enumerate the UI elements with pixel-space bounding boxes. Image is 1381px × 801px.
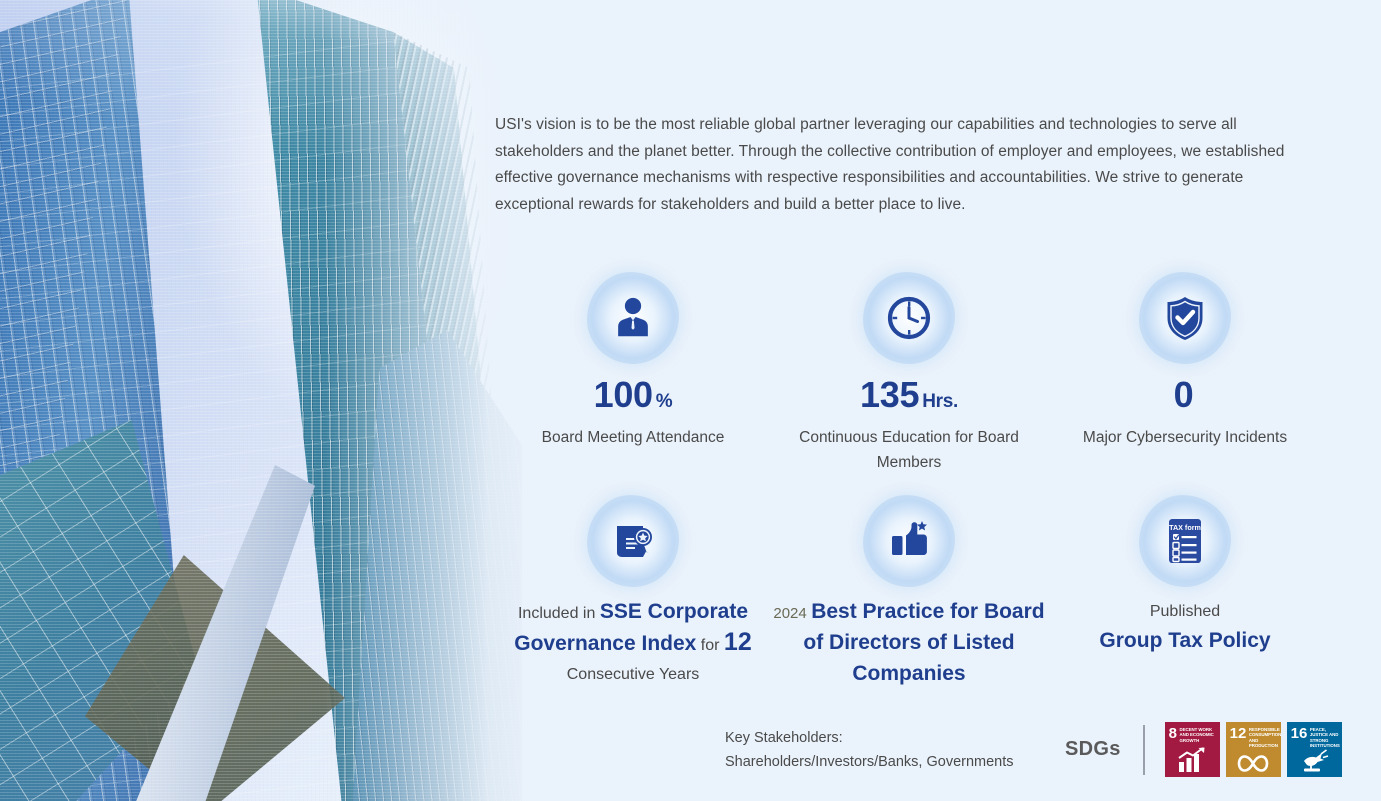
sdg-badge-8[interactable]: 8 DECENT WORK AND ECONOMIC GROWTH [1165, 722, 1220, 777]
sdg-number: 12 [1230, 727, 1247, 749]
award-year: 2024 [773, 605, 806, 622]
sdg-badges: 8 DECENT WORK AND ECONOMIC GROWTH [1165, 722, 1342, 777]
content-column: USI's vision is to be the most reliable … [495, 0, 1381, 801]
award-text: Included in SSE Corporate Governance Ind… [495, 597, 771, 689]
award-middle: for [701, 637, 720, 654]
governance-highlights-page: USI's vision is to be the most reliable … [0, 0, 1381, 801]
stat-continuous-education: 135Hrs. Continuous Education for Board M… [771, 272, 1047, 475]
thumbs-up-star-icon [863, 495, 955, 587]
sdg-number: 16 [1291, 727, 1308, 749]
sdg-title: PEACE, JUSTICE AND STRONG INSTITUTIONS [1310, 727, 1340, 749]
stat-board-meeting-attendance: 100% Board Meeting Attendance [495, 272, 771, 475]
certificate-ribbon-icon [587, 495, 679, 587]
building-photo [0, 0, 560, 801]
stat-caption: Board Meeting Attendance [495, 425, 771, 450]
award-prefix: Published [1047, 597, 1323, 626]
stat-value: 100% [495, 374, 771, 423]
award-sse-governance-index: Included in SSE Corporate Governance Ind… [495, 495, 771, 690]
award-group-tax-policy: TAX form Published Group Tax Polic [1047, 495, 1323, 690]
stat-unit: % [656, 391, 673, 412]
sdg-badge-header: 16 PEACE, JUSTICE AND STRONG INSTITUTION… [1287, 722, 1342, 749]
building-photo-artwork [0, 0, 560, 801]
stat-number: 0 [1174, 374, 1194, 415]
footer-divider [1143, 725, 1145, 775]
award-highlight: Group Tax Policy [1047, 626, 1323, 655]
svg-text:TAX form: TAX form [1169, 523, 1201, 532]
sdg-badge-header: 8 DECENT WORK AND ECONOMIC GROWTH [1165, 722, 1220, 743]
stat-number: 100 [594, 374, 653, 415]
footer: Key Stakeholders: Shareholders/Investors… [495, 722, 1381, 777]
awards-row: Included in SSE Corporate Governance Ind… [495, 495, 1325, 690]
award-best-practice-board: 2024 Best Practice for Board of Director… [771, 495, 1047, 690]
vision-paragraph: USI's vision is to be the most reliable … [495, 112, 1305, 218]
businessman-icon [587, 272, 679, 364]
key-stakeholders-label: Key Stakeholders: [725, 726, 1045, 750]
sdg-badge-16[interactable]: 16 PEACE, JUSTICE AND STRONG INSTITUTION… [1287, 722, 1342, 777]
award-suffix: Consecutive Years [567, 666, 700, 683]
stat-caption: Major Cybersecurity Incidents [1047, 425, 1323, 450]
award-highlight: Best Practice for Board of Directors of … [803, 600, 1044, 685]
infinity-icon [1226, 754, 1281, 773]
dove-gavel-icon [1287, 748, 1342, 773]
growth-chart-icon [1165, 747, 1220, 773]
shield-check-icon [1139, 272, 1231, 364]
sdg-number: 8 [1169, 727, 1177, 743]
stat-value: 135Hrs. [771, 374, 1047, 423]
key-stakeholders: Key Stakeholders: Shareholders/Investors… [725, 726, 1045, 774]
award-prefix: Included in [518, 605, 595, 622]
stat-caption: Continuous Education for Board Members [771, 425, 1047, 475]
stat-cybersecurity-incidents: 0 Major Cybersecurity Incidents [1047, 272, 1323, 475]
award-number: 12 [724, 628, 752, 656]
stat-unit: Hrs. [922, 391, 958, 412]
key-stakeholders-value: Shareholders/Investors/Banks, Government… [725, 750, 1045, 774]
sdg-title: RESPONSIBLE CONSUMPTION AND PRODUCTION [1249, 727, 1281, 749]
metrics-row: 100% Board Meeting Attendance [495, 272, 1325, 475]
clock-icon [863, 272, 955, 364]
stat-number: 135 [860, 374, 919, 415]
sdg-badge-header: 12 RESPONSIBLE CONSUMPTION AND PRODUCTIO… [1226, 722, 1281, 749]
stat-value: 0 [1047, 374, 1323, 423]
award-text: 2024 Best Practice for Board of Director… [771, 597, 1047, 690]
photo-fade-right [0, 0, 560, 801]
award-text: Published Group Tax Policy [1047, 597, 1323, 655]
sdgs-label: SDGs [1065, 738, 1121, 761]
sdg-title: DECENT WORK AND ECONOMIC GROWTH [1180, 727, 1217, 743]
sdg-badge-12[interactable]: 12 RESPONSIBLE CONSUMPTION AND PRODUCTIO… [1226, 722, 1281, 777]
tax-form-icon: TAX form [1139, 495, 1231, 587]
